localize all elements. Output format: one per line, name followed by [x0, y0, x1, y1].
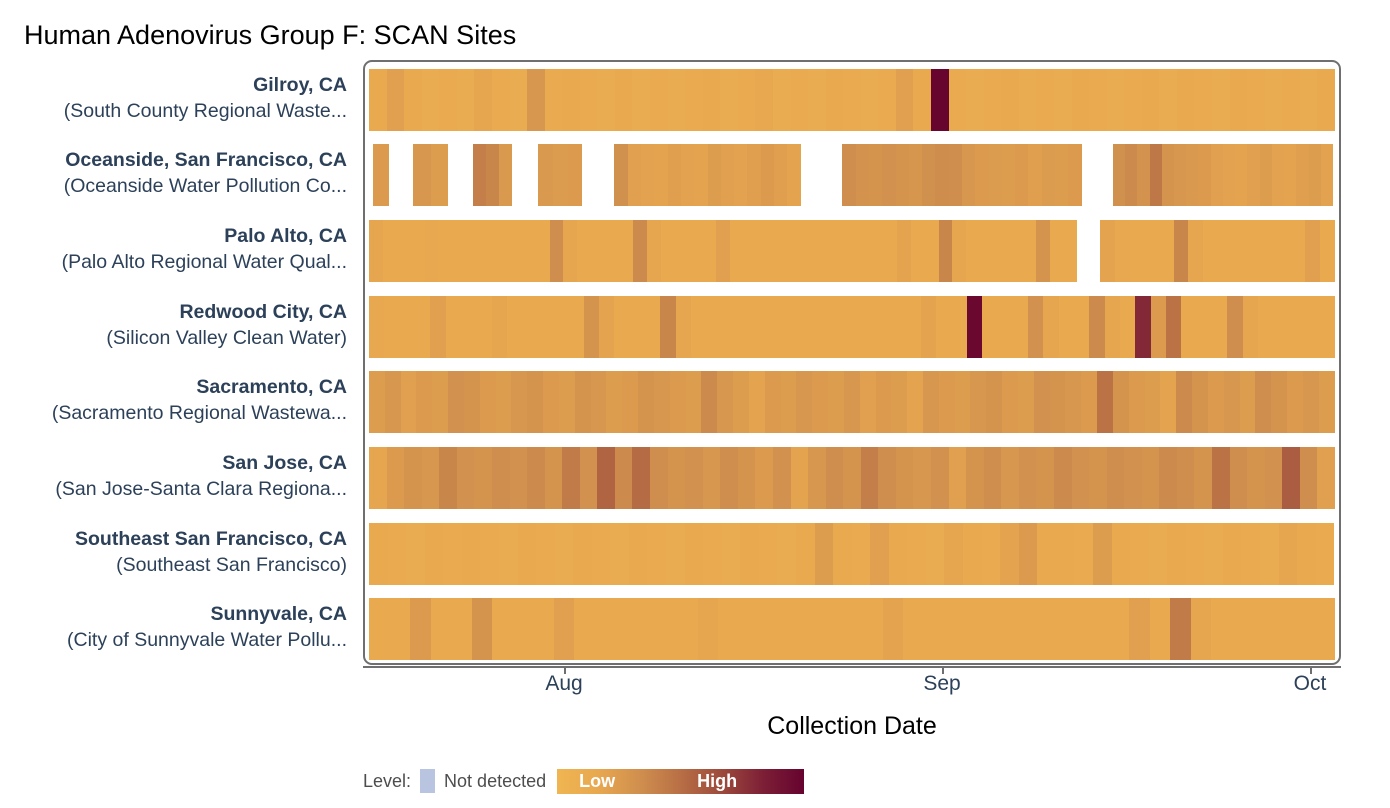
heatmap-cell[interactable]	[1088, 598, 1109, 660]
heatmap-cell[interactable]	[411, 220, 425, 282]
heatmap-cell[interactable]	[1320, 220, 1335, 282]
heatmap-cell[interactable]	[896, 144, 909, 206]
heatmap-cell[interactable]	[734, 144, 747, 206]
heatmap-cell[interactable]	[911, 220, 925, 282]
heatmap-cell[interactable]	[856, 144, 869, 206]
heatmap-cell[interactable]	[982, 296, 997, 358]
heatmap-cell[interactable]	[1144, 220, 1159, 282]
heatmap-cell[interactable]	[1115, 220, 1130, 282]
heatmap-cell[interactable]	[844, 371, 860, 433]
heatmap-cell[interactable]	[1241, 523, 1260, 585]
heatmap-cell[interactable]	[413, 144, 430, 206]
heatmap-cell[interactable]	[422, 69, 440, 131]
heatmap-cell[interactable]	[747, 144, 760, 206]
heatmap-cell[interactable]	[755, 69, 773, 131]
heatmap-cell[interactable]	[951, 296, 966, 358]
heatmap-cell[interactable]	[701, 371, 717, 433]
heatmap-cell[interactable]	[852, 523, 871, 585]
heatmap-cell[interactable]	[462, 523, 481, 585]
heatmap-cell[interactable]	[647, 523, 666, 585]
heatmap-cell[interactable]	[1019, 523, 1038, 585]
heatmap-cell[interactable]	[828, 371, 844, 433]
heatmap-cell[interactable]	[740, 523, 759, 585]
heatmap-cell[interactable]	[443, 523, 462, 585]
heatmap-cell[interactable]	[761, 144, 774, 206]
heatmap-cell[interactable]	[1159, 220, 1174, 282]
heatmap-cell[interactable]	[580, 69, 598, 131]
heatmap-cell[interactable]	[510, 69, 528, 131]
heatmap-cell[interactable]	[997, 296, 1012, 358]
heatmap-cell[interactable]	[808, 447, 826, 509]
heatmap-cell[interactable]	[1247, 220, 1262, 282]
heatmap-cell[interactable]	[614, 144, 627, 206]
heatmap-cell[interactable]	[1068, 598, 1089, 660]
heatmap-cell[interactable]	[749, 371, 765, 433]
heatmap-cell[interactable]	[622, 371, 638, 433]
heatmap-cell[interactable]	[1166, 296, 1181, 358]
heatmap-cell[interactable]	[860, 296, 875, 358]
heatmap-cell[interactable]	[1317, 447, 1335, 509]
heatmap-cell[interactable]	[536, 523, 555, 585]
heatmap-cell[interactable]	[774, 144, 787, 206]
heatmap-cell[interactable]	[632, 447, 650, 509]
heatmap-cell[interactable]	[1072, 447, 1090, 509]
heatmap-cell[interactable]	[1291, 220, 1306, 282]
heatmap-cell[interactable]	[527, 447, 545, 509]
heatmap-cell[interactable]	[580, 447, 598, 509]
heatmap-cell[interactable]	[829, 296, 844, 358]
heatmap-cell[interactable]	[614, 296, 629, 358]
heatmap-cell[interactable]	[843, 447, 861, 509]
heatmap-cell[interactable]	[536, 220, 550, 282]
heatmap-cell[interactable]	[619, 220, 633, 282]
heatmap-cell[interactable]	[657, 598, 678, 660]
heatmap-cell[interactable]	[474, 69, 492, 131]
heatmap-cell[interactable]	[814, 220, 828, 282]
heatmap-cell[interactable]	[492, 296, 507, 358]
heatmap-cell[interactable]	[949, 69, 967, 131]
heatmap-cell[interactable]	[686, 371, 702, 433]
heatmap-cell[interactable]	[677, 598, 698, 660]
heatmap-cell[interactable]	[1297, 523, 1316, 585]
heatmap-cell[interactable]	[966, 447, 984, 509]
heatmap-cell[interactable]	[406, 523, 425, 585]
heatmap-cell[interactable]	[425, 523, 444, 585]
heatmap-cell[interactable]	[615, 447, 633, 509]
heatmap-cell[interactable]	[1282, 69, 1300, 131]
heatmap-cell[interactable]	[702, 220, 716, 282]
heatmap-cell[interactable]	[1296, 144, 1308, 206]
heatmap-cell[interactable]	[982, 523, 1001, 585]
heatmap-cell[interactable]	[759, 598, 780, 660]
heatmap-cell[interactable]	[720, 69, 738, 131]
heatmap-cell[interactable]	[584, 296, 599, 358]
heatmap-cell[interactable]	[387, 447, 405, 509]
heatmap-cell[interactable]	[422, 447, 440, 509]
heatmap-cell[interactable]	[989, 144, 1002, 206]
heatmap-cell[interactable]	[415, 296, 430, 358]
heatmap-cell[interactable]	[896, 69, 914, 131]
heatmap-cell[interactable]	[738, 69, 756, 131]
heatmap-cell[interactable]	[1050, 220, 1064, 282]
heatmap-cell[interactable]	[1192, 371, 1208, 433]
heatmap-cell[interactable]	[903, 598, 924, 660]
heatmap-cell[interactable]	[685, 523, 704, 585]
heatmap-cell[interactable]	[949, 144, 962, 206]
heatmap-cell[interactable]	[939, 371, 955, 433]
heatmap-cell[interactable]	[1212, 69, 1230, 131]
heatmap-cell[interactable]	[606, 371, 622, 433]
heatmap-cell[interactable]	[1223, 523, 1242, 585]
heatmap-cell[interactable]	[1015, 144, 1028, 206]
heatmap-cell[interactable]	[1093, 523, 1112, 585]
heatmap-cell[interactable]	[654, 371, 670, 433]
heatmap-cell[interactable]	[676, 296, 691, 358]
heatmap-cell[interactable]	[390, 598, 411, 660]
heatmap-cell[interactable]	[1208, 371, 1224, 433]
heatmap-cell[interactable]	[568, 144, 583, 206]
heatmap-cell[interactable]	[486, 144, 499, 206]
heatmap-cell[interactable]	[650, 447, 668, 509]
heatmap-cell[interactable]	[492, 447, 510, 509]
heatmap-cell[interactable]	[955, 371, 971, 433]
heatmap-cell[interactable]	[668, 69, 686, 131]
heatmap-cell[interactable]	[1194, 69, 1212, 131]
heatmap-cell[interactable]	[1013, 296, 1028, 358]
heatmap-cell[interactable]	[815, 523, 834, 585]
heatmap-cell[interactable]	[1002, 144, 1015, 206]
heatmap-cell[interactable]	[1300, 69, 1318, 131]
heatmap-cell[interactable]	[1197, 296, 1212, 358]
heatmap-cell[interactable]	[913, 69, 931, 131]
heatmap-cell[interactable]	[1319, 296, 1334, 358]
heatmap-cell[interactable]	[1273, 296, 1288, 358]
heatmap-cell[interactable]	[492, 69, 510, 131]
heatmap-cell[interactable]	[383, 220, 397, 282]
heatmap-cell[interactable]	[439, 447, 457, 509]
heatmap-cell[interactable]	[923, 371, 939, 433]
heatmap-cell[interactable]	[798, 296, 813, 358]
heatmap-cell[interactable]	[883, 598, 904, 660]
heatmap-cell[interactable]	[843, 69, 861, 131]
heatmap-cell[interactable]	[1056, 523, 1075, 585]
heatmap-cell[interactable]	[638, 371, 654, 433]
heatmap-cell[interactable]	[597, 69, 615, 131]
heatmap-cell[interactable]	[1314, 598, 1335, 660]
heatmap-cell[interactable]	[1279, 523, 1298, 585]
heatmap-cell[interactable]	[1227, 296, 1242, 358]
heatmap-cell[interactable]	[1218, 220, 1233, 282]
heatmap-cell[interactable]	[1065, 371, 1081, 433]
heatmap-cell[interactable]	[944, 598, 965, 660]
heatmap-cell[interactable]	[369, 371, 385, 433]
heatmap-cell[interactable]	[758, 220, 772, 282]
heatmap-cell[interactable]	[737, 296, 752, 358]
heatmap-cell[interactable]	[1107, 69, 1125, 131]
heatmap-cell[interactable]	[716, 220, 730, 282]
heatmap-cell[interactable]	[480, 523, 499, 585]
heatmap-cell[interactable]	[1150, 144, 1162, 206]
heatmap-cell[interactable]	[994, 220, 1008, 282]
heatmap-cell[interactable]	[1265, 447, 1283, 509]
heatmap-cell[interactable]	[980, 220, 994, 282]
heatmap-cell[interactable]	[861, 69, 879, 131]
heatmap-cell[interactable]	[949, 447, 967, 509]
heatmap-cell[interactable]	[1050, 371, 1066, 433]
heatmap-cell[interactable]	[791, 69, 809, 131]
heatmap-cell[interactable]	[984, 447, 1002, 509]
heatmap-cell[interactable]	[1317, 69, 1335, 131]
heatmap-cell[interactable]	[633, 220, 647, 282]
heatmap-cell[interactable]	[575, 371, 591, 433]
heatmap-cell[interactable]	[431, 144, 448, 206]
heatmap-cell[interactable]	[1089, 69, 1107, 131]
heatmap-cell[interactable]	[685, 447, 703, 509]
heatmap-cell[interactable]	[563, 220, 577, 282]
heatmap-cell[interactable]	[1150, 598, 1171, 660]
heatmap-cell[interactable]	[1260, 144, 1272, 206]
heatmap-cell[interactable]	[796, 371, 812, 433]
heatmap-cell[interactable]	[814, 296, 829, 358]
heatmap-cell[interactable]	[985, 598, 1006, 660]
heatmap-cell[interactable]	[1059, 296, 1074, 358]
heatmap-cell[interactable]	[963, 523, 982, 585]
heatmap-cell[interactable]	[1203, 220, 1218, 282]
heatmap-cell[interactable]	[913, 447, 931, 509]
heatmap-cell[interactable]	[685, 69, 703, 131]
heatmap-cell[interactable]	[691, 296, 706, 358]
heatmap-cell[interactable]	[772, 220, 786, 282]
heatmap-cell[interactable]	[1042, 144, 1055, 206]
heatmap-cell[interactable]	[841, 220, 855, 282]
heatmap-cell[interactable]	[675, 220, 689, 282]
heatmap-cell[interactable]	[694, 144, 707, 206]
heatmap-cell[interactable]	[717, 371, 733, 433]
heatmap-cell[interactable]	[984, 69, 1002, 131]
heatmap-cell[interactable]	[533, 598, 554, 660]
heatmap-cell[interactable]	[780, 598, 801, 660]
heatmap-cell[interactable]	[553, 296, 568, 358]
heatmap-cell[interactable]	[733, 371, 749, 433]
heatmap-cell[interactable]	[1167, 523, 1186, 585]
heatmap-cell[interactable]	[522, 220, 536, 282]
heatmap-cell[interactable]	[926, 523, 945, 585]
heatmap-cell[interactable]	[1186, 523, 1205, 585]
heatmap-cell[interactable]	[670, 371, 686, 433]
heatmap-cell[interactable]	[1230, 447, 1248, 509]
heatmap-cell[interactable]	[875, 296, 890, 358]
heatmap-cell[interactable]	[628, 144, 641, 206]
heatmap-cell[interactable]	[718, 598, 739, 660]
heatmap-cell[interactable]	[1198, 144, 1210, 206]
heatmap-cell[interactable]	[1107, 447, 1125, 509]
heatmap-cell[interactable]	[595, 598, 616, 660]
heatmap-cell[interactable]	[796, 523, 815, 585]
heatmap-cell[interactable]	[965, 598, 986, 660]
heatmap-cell[interactable]	[1008, 220, 1022, 282]
heatmap-cell[interactable]	[457, 69, 475, 131]
heatmap-cell[interactable]	[787, 144, 800, 206]
heatmap-cell[interactable]	[1272, 144, 1284, 206]
heatmap-cell[interactable]	[800, 598, 821, 660]
heatmap-cell[interactable]	[1177, 69, 1195, 131]
heatmap-cell[interactable]	[1188, 220, 1203, 282]
heatmap-cell[interactable]	[461, 296, 476, 358]
heatmap-cell[interactable]	[1028, 296, 1043, 358]
heatmap-cell[interactable]	[909, 144, 922, 206]
heatmap-cell[interactable]	[844, 296, 859, 358]
heatmap-cell[interactable]	[1232, 598, 1253, 660]
heatmap-cell[interactable]	[890, 296, 905, 358]
heatmap-cell[interactable]	[1191, 598, 1212, 660]
heatmap-cell[interactable]	[1223, 144, 1235, 206]
heatmap-cell[interactable]	[861, 447, 879, 509]
heatmap-cell[interactable]	[882, 144, 895, 206]
heatmap-cell[interactable]	[907, 523, 926, 585]
heatmap-cell[interactable]	[706, 296, 721, 358]
heatmap-cell[interactable]	[543, 371, 559, 433]
heatmap-cell[interactable]	[1072, 69, 1090, 131]
heatmap-cell[interactable]	[786, 220, 800, 282]
heatmap-cell[interactable]	[1129, 598, 1150, 660]
heatmap-cell[interactable]	[452, 220, 466, 282]
heatmap-cell[interactable]	[1235, 144, 1247, 206]
heatmap-cell[interactable]	[545, 69, 563, 131]
heatmap-cell[interactable]	[388, 523, 407, 585]
heatmap-cell[interactable]	[400, 296, 415, 358]
heatmap-cell[interactable]	[555, 523, 574, 585]
heatmap-cell[interactable]	[404, 447, 422, 509]
heatmap-cell[interactable]	[554, 598, 575, 660]
heatmap-cell[interactable]	[1089, 296, 1104, 358]
heatmap-cell[interactable]	[773, 69, 791, 131]
heatmap-cell[interactable]	[1212, 296, 1227, 358]
heatmap-cell[interactable]	[1135, 296, 1150, 358]
heatmap-cell[interactable]	[550, 220, 564, 282]
heatmap-cell[interactable]	[896, 447, 914, 509]
heatmap-cell[interactable]	[527, 69, 545, 131]
heatmap-cell[interactable]	[1265, 69, 1283, 131]
heatmap-cell[interactable]	[647, 220, 661, 282]
heatmap-cell[interactable]	[883, 220, 897, 282]
heatmap-cell[interactable]	[1097, 371, 1113, 433]
heatmap-cell[interactable]	[791, 447, 809, 509]
heatmap-cell[interactable]	[878, 447, 896, 509]
heatmap-cell[interactable]	[369, 447, 387, 509]
heatmap-cell[interactable]	[698, 598, 719, 660]
heatmap-cell[interactable]	[759, 523, 778, 585]
heatmap-cell[interactable]	[654, 144, 667, 206]
heatmap-cell[interactable]	[641, 144, 654, 206]
heatmap-cell[interactable]	[492, 598, 513, 660]
heatmap-cell[interactable]	[472, 598, 493, 660]
heatmap-cell[interactable]	[629, 523, 648, 585]
heatmap-cell[interactable]	[1261, 220, 1276, 282]
heatmap-cell[interactable]	[513, 598, 534, 660]
heatmap-cell[interactable]	[1151, 296, 1166, 358]
heatmap-cell[interactable]	[827, 220, 841, 282]
heatmap-cell[interactable]	[966, 220, 980, 282]
heatmap-cell[interactable]	[1043, 296, 1058, 358]
heatmap-cell[interactable]	[1177, 447, 1195, 509]
heatmap-cell[interactable]	[862, 598, 883, 660]
heatmap-cell[interactable]	[553, 144, 568, 206]
heatmap-cell[interactable]	[668, 447, 686, 509]
heatmap-cell[interactable]	[1142, 447, 1160, 509]
heatmap-cell[interactable]	[573, 523, 592, 585]
heatmap-cell[interactable]	[1000, 523, 1019, 585]
heatmap-cell[interactable]	[1036, 447, 1054, 509]
heatmap-cell[interactable]	[1160, 371, 1176, 433]
heatmap-cell[interactable]	[1300, 447, 1318, 509]
heatmap-cell[interactable]	[970, 371, 986, 433]
heatmap-cell[interactable]	[952, 220, 966, 282]
heatmap-cell[interactable]	[966, 69, 984, 131]
heatmap-cell[interactable]	[404, 69, 422, 131]
heatmap-cell[interactable]	[1001, 447, 1019, 509]
heatmap-cell[interactable]	[738, 447, 756, 509]
heatmap-cell[interactable]	[860, 371, 876, 433]
heatmap-cell[interactable]	[1273, 598, 1294, 660]
heatmap-cell[interactable]	[661, 220, 675, 282]
heatmap-cell[interactable]	[1282, 447, 1300, 509]
heatmap-cell[interactable]	[562, 69, 580, 131]
heatmap-cell[interactable]	[936, 296, 951, 358]
heatmap-cell[interactable]	[939, 220, 953, 282]
heatmap-cell[interactable]	[773, 447, 791, 509]
heatmap-cell[interactable]	[632, 69, 650, 131]
heatmap-cell[interactable]	[1170, 598, 1191, 660]
heatmap-cell[interactable]	[808, 69, 826, 131]
heatmap-cell[interactable]	[474, 447, 492, 509]
heatmap-cell[interactable]	[833, 523, 852, 585]
heatmap-cell[interactable]	[1018, 371, 1034, 433]
heatmap-cell[interactable]	[1142, 69, 1160, 131]
heatmap-cell[interactable]	[1211, 144, 1223, 206]
heatmap-cell[interactable]	[870, 523, 889, 585]
heatmap-cell[interactable]	[1130, 523, 1149, 585]
heatmap-cell[interactable]	[432, 371, 448, 433]
heatmap-cell[interactable]	[1149, 523, 1168, 585]
heatmap-cell[interactable]	[597, 447, 615, 509]
heatmap-cell[interactable]	[592, 523, 611, 585]
heatmap-cell[interactable]	[1174, 220, 1189, 282]
heatmap-cell[interactable]	[1159, 447, 1177, 509]
heatmap-cell[interactable]	[925, 220, 939, 282]
heatmap-cell[interactable]	[1194, 447, 1212, 509]
heatmap-cell[interactable]	[1112, 523, 1131, 585]
heatmap-cell[interactable]	[975, 144, 988, 206]
heatmap-cell[interactable]	[473, 144, 486, 206]
heatmap-cell[interactable]	[931, 69, 949, 131]
heatmap-cell[interactable]	[1036, 220, 1050, 282]
heatmap-cell[interactable]	[826, 69, 844, 131]
heatmap-cell[interactable]	[559, 371, 575, 433]
heatmap-cell[interactable]	[1145, 371, 1161, 433]
heatmap-cell[interactable]	[1303, 371, 1319, 433]
heatmap-cell[interactable]	[610, 523, 629, 585]
heatmap-cell[interactable]	[499, 523, 518, 585]
heatmap-cell[interactable]	[574, 598, 595, 660]
heatmap-cell[interactable]	[369, 598, 390, 660]
heatmap-cell[interactable]	[1034, 371, 1050, 433]
heatmap-cell[interactable]	[1211, 598, 1232, 660]
heatmap-cell[interactable]	[650, 69, 668, 131]
heatmap-cell[interactable]	[1124, 447, 1142, 509]
heatmap-cell[interactable]	[777, 523, 796, 585]
heatmap-cell[interactable]	[568, 296, 583, 358]
heatmap-cell[interactable]	[496, 371, 512, 433]
